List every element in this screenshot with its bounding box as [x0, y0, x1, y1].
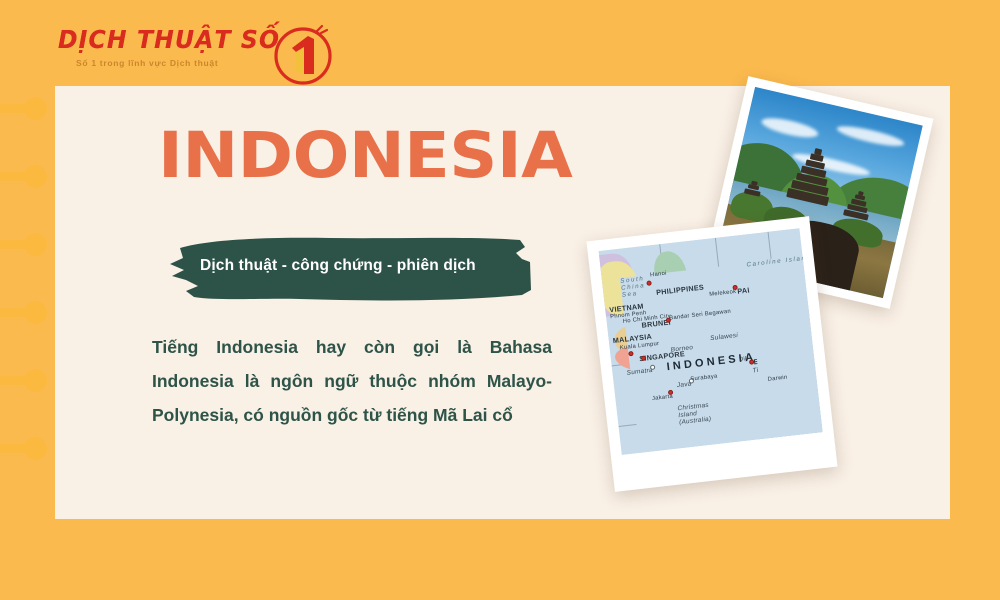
map-city-dot	[667, 389, 673, 395]
brand-logo[interactable]: DỊCH THUẬT SỐ Số 1 trong lĩnh vực Dịch t…	[58, 16, 308, 78]
binding-pin-knob	[24, 97, 47, 120]
brand-tagline: Số 1 trong lĩnh vực Dịch thuật	[76, 58, 218, 68]
poster-canvas: DỊCH THUẬT SỐ Số 1 trong lĩnh vực Dịch t…	[0, 0, 1000, 600]
binding-pin-knob	[24, 165, 47, 188]
services-banner-label: Dịch thuật - công chứng - phiên dịch	[200, 257, 476, 275]
map-label-christmas-island: ChristmasIsland(Australia)	[677, 402, 712, 427]
indonesia-map-photo[interactable]: SouthChinaSea VIETNAM Hanoi Ho Chi Minh …	[586, 216, 837, 492]
binding-pin-knob	[24, 301, 47, 324]
binding-pin-knob	[24, 369, 47, 392]
binding-pin-knob	[24, 437, 47, 460]
description-paragraph: Tiếng Indonesia hay còn gọi là Bahasa In…	[152, 330, 552, 432]
binding-pin-knob	[24, 233, 47, 256]
brand-wordmark: DỊCH THUẬT SỐ	[58, 25, 280, 54]
services-banner: Dịch thuật - công chứng - phiên dịch	[150, 232, 570, 308]
map-city-dot	[628, 350, 634, 356]
map-label-dili: Dili	[739, 356, 749, 363]
map-city-dot	[665, 317, 671, 323]
page-title: INDONESIA	[158, 124, 572, 187]
indonesia-map-image: SouthChinaSea VIETNAM Hanoi Ho Chi Minh …	[599, 228, 823, 455]
number-one-badge-icon	[270, 22, 334, 86]
